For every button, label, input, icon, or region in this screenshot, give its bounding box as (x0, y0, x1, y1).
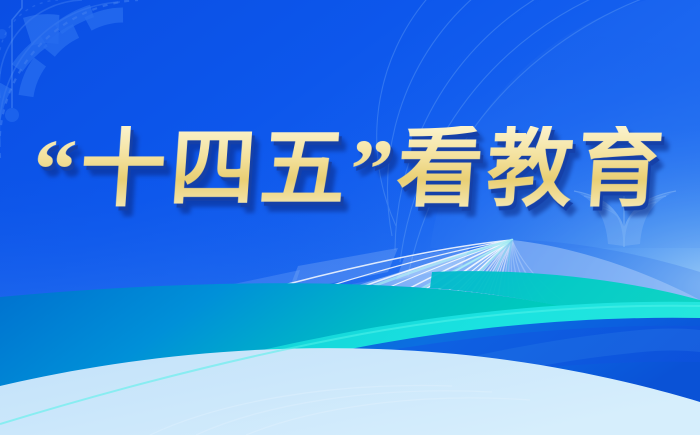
wave-layers (0, 0, 700, 435)
education-banner: “十四五”看教育 (0, 0, 700, 435)
